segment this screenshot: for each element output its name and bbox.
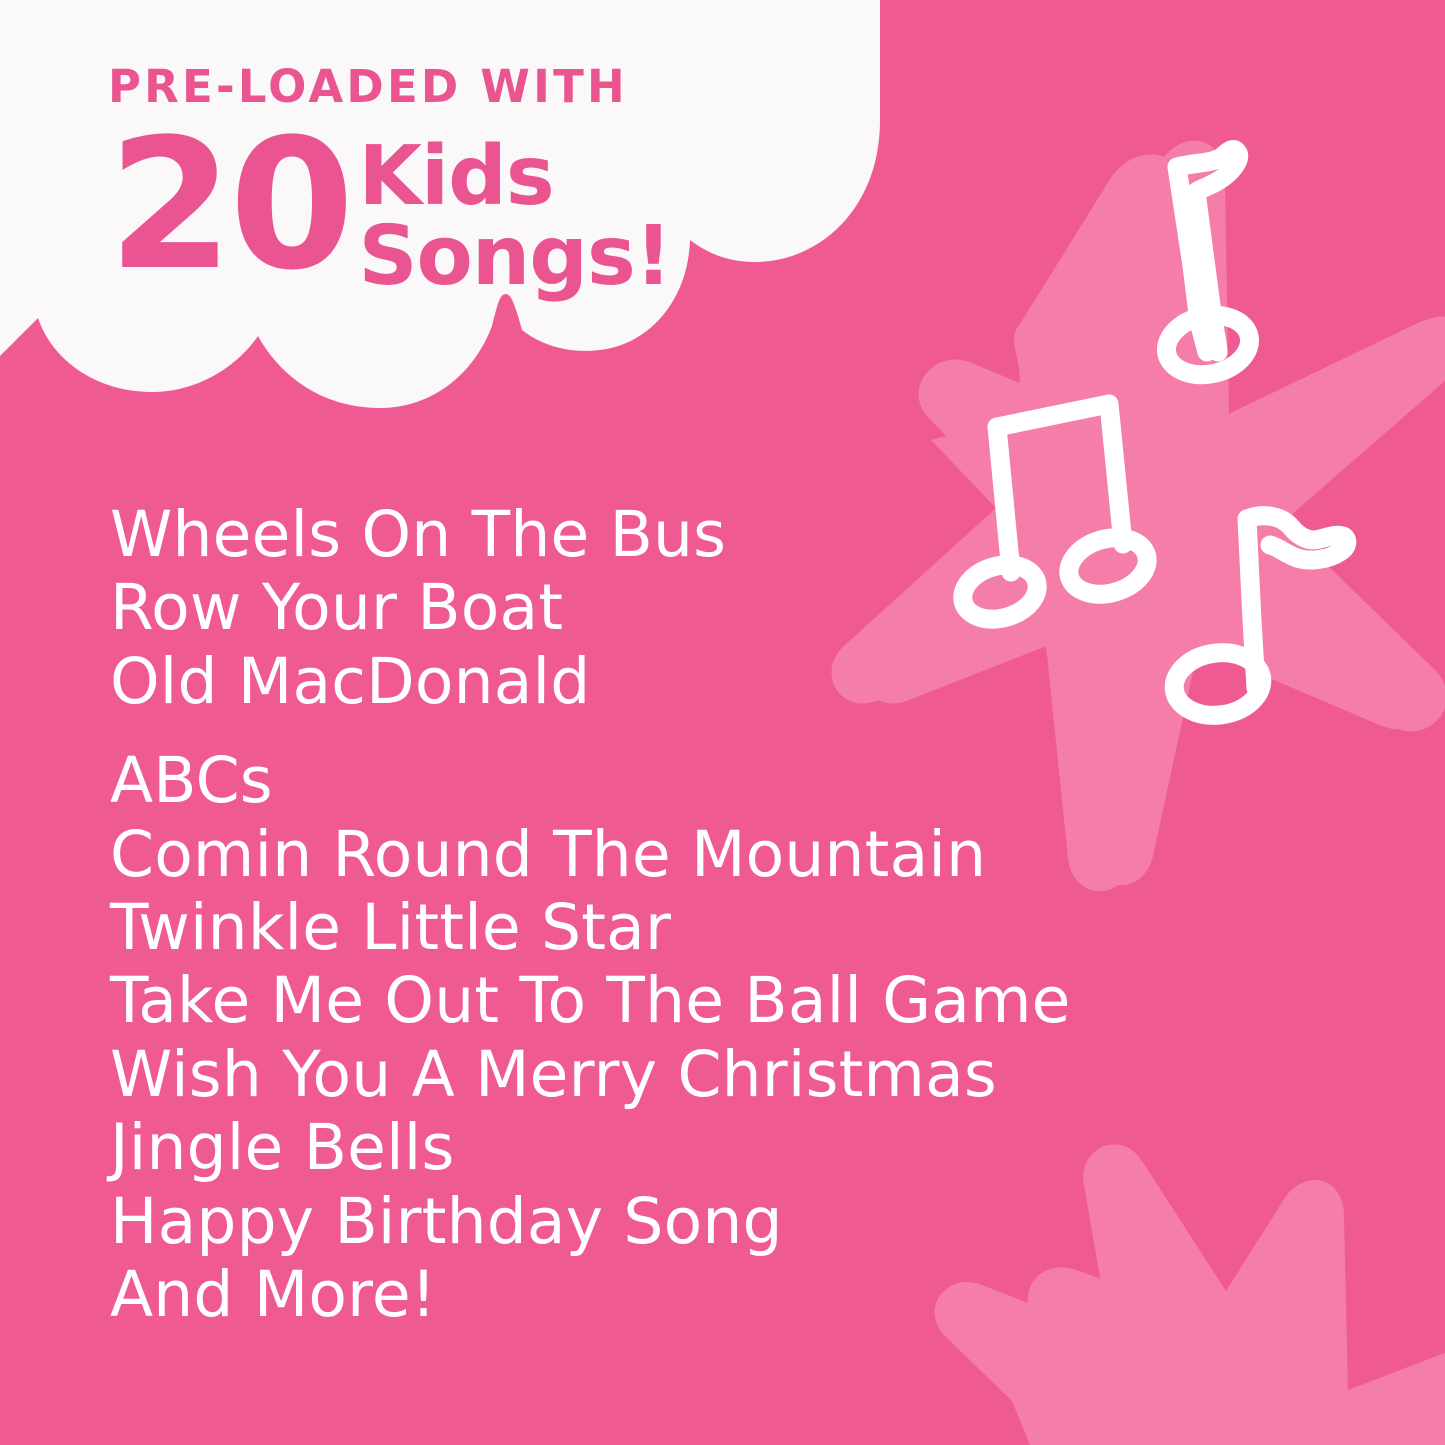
promo-graphic: PRE-LOADED WITH 20 Kids Songs! Wheels On… [0,0,1445,1445]
song-list-item: Old MacDonald [110,645,1310,718]
headline-line-2: Songs! [359,217,672,297]
song-list-item: Twinkle Little Star [110,891,1310,964]
song-list-item: Comin Round The Mountain [110,818,1310,891]
headline-title: Kids Songs! [359,127,672,298]
song-list-item: And More! [110,1258,1310,1331]
song-list-item: Happy Birthday Song [110,1185,1310,1258]
song-list-item: Wish You A Merry Christmas [110,1038,1310,1111]
song-count-number: 20 [108,127,351,282]
song-list: Wheels On The Bus Row Your Boat Old MacD… [110,498,1310,1331]
song-list-item: ABCs [110,744,1310,817]
count-and-title-row: 20 Kids Songs! [108,127,748,298]
headline-line-1: Kids [359,137,672,217]
song-list-item: Row Your Boat [110,571,1310,644]
headline-block: PRE-LOADED WITH 20 Kids Songs! [108,64,748,298]
song-list-item: Take Me Out To The Ball Game [110,964,1310,1037]
song-list-item: Wheels On The Bus [110,498,1310,571]
song-list-item: Jingle Bells [110,1111,1310,1184]
